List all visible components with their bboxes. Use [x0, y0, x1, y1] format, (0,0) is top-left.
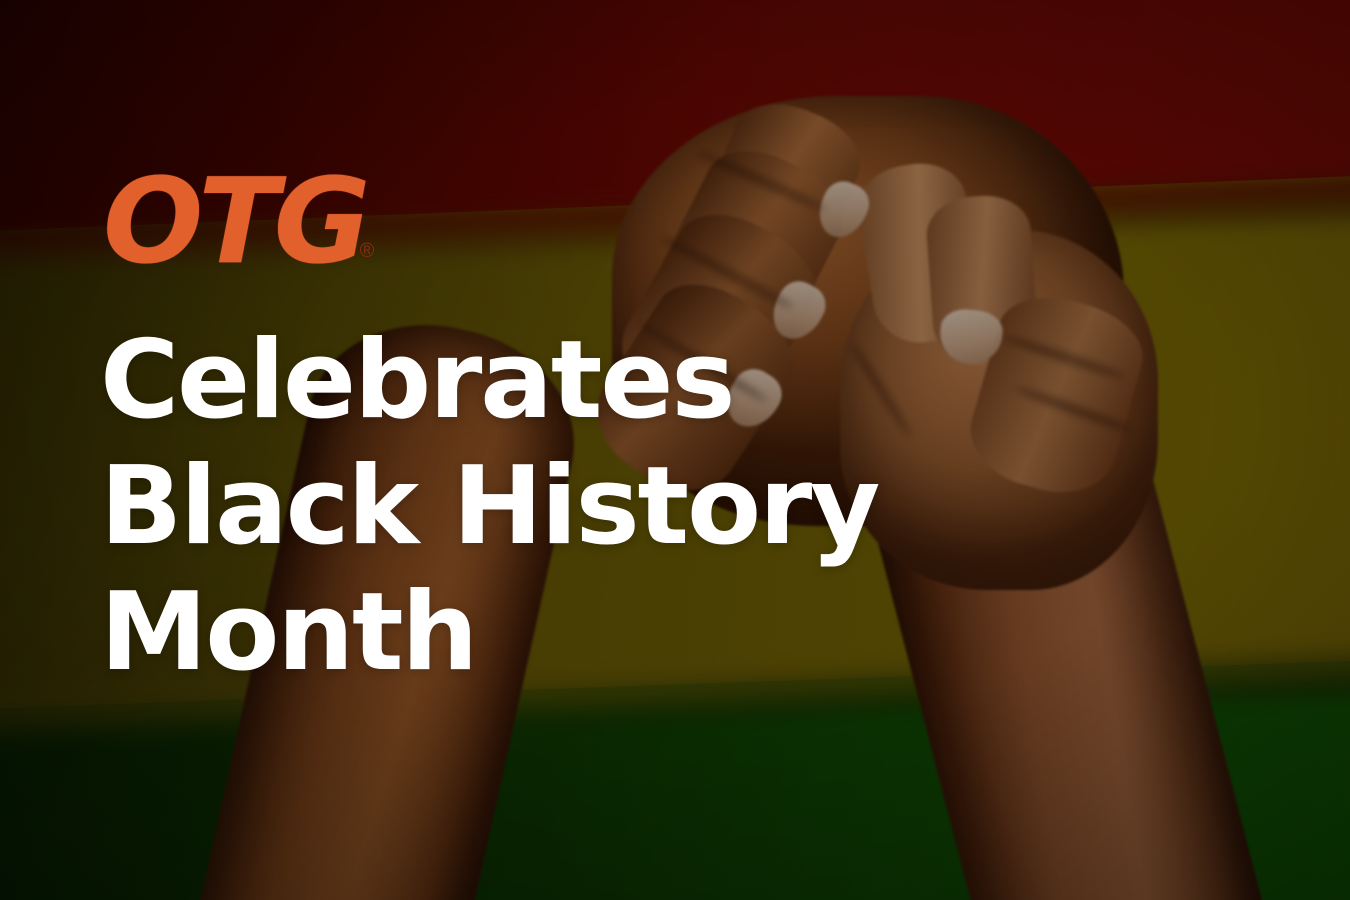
banner-canvas: OTG ® Celebrates Black History Month [0, 0, 1350, 900]
registered-trademark-icon: ® [360, 241, 375, 261]
headline-line-2: Black History [100, 444, 1030, 570]
otg-logo[interactable]: OTG ® [103, 172, 374, 271]
banner-content: OTG ® Celebrates Black History Month [0, 0, 1350, 900]
headline-line-3: Month [100, 570, 1030, 696]
banner-headline: Celebrates Black History Month [100, 318, 1030, 695]
headline-line-1: Celebrates [100, 318, 1030, 444]
otg-logo-wordmark: OTG [103, 172, 366, 271]
